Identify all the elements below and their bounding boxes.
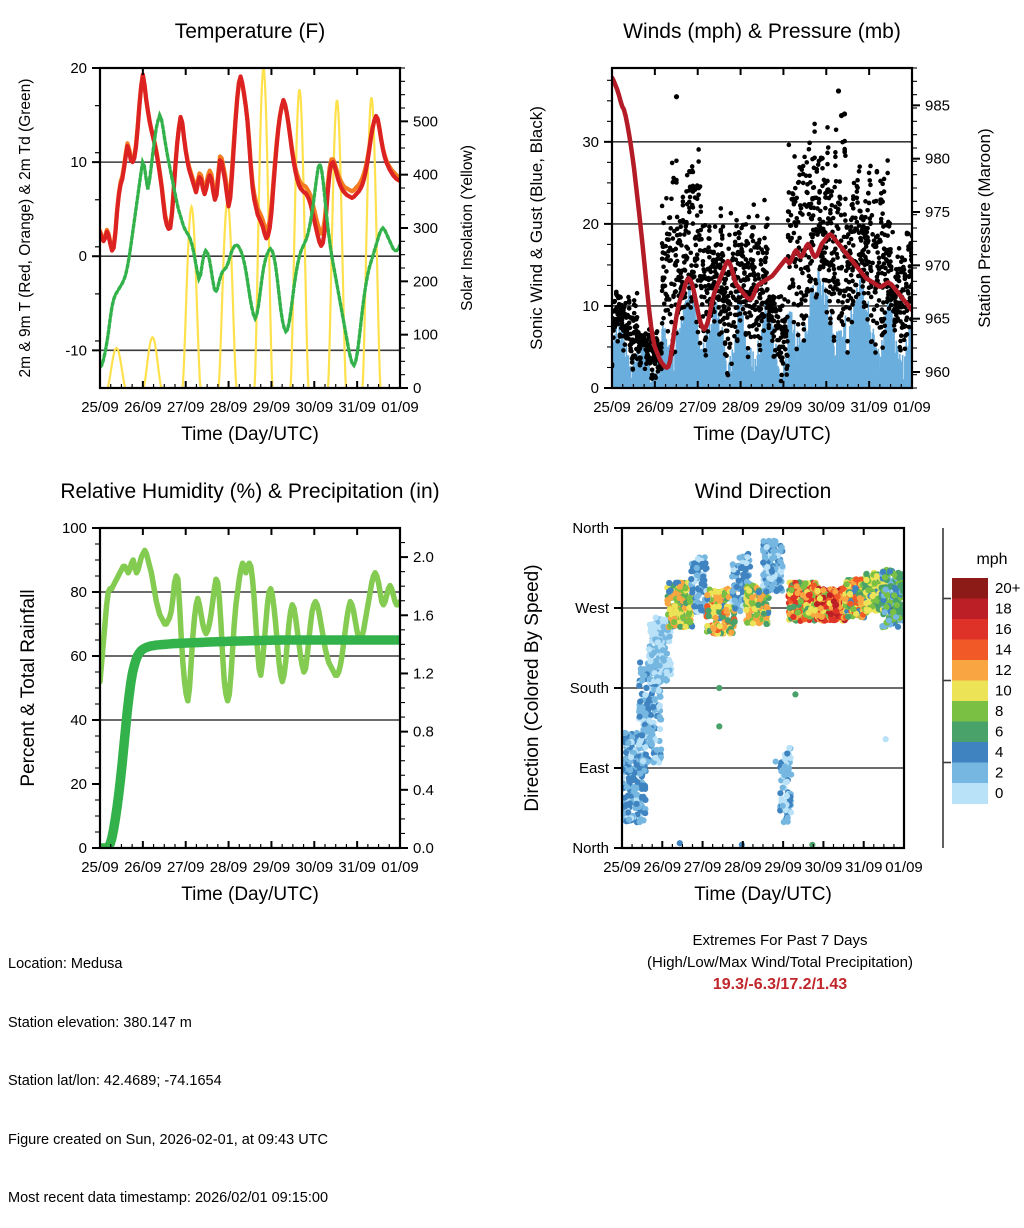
x-tick-label: 01/09: [893, 399, 931, 416]
wind-direction-point: [659, 617, 665, 623]
wind-direction-point: [777, 790, 783, 796]
y-tick-label-right: 0.4: [413, 782, 434, 799]
gust-point: [627, 306, 632, 311]
gust-point: [850, 268, 855, 273]
gust-point: [661, 316, 666, 321]
wind-direction-point: [782, 756, 788, 762]
gust-point: [663, 284, 668, 289]
gust-point: [806, 268, 811, 273]
wind-direction-point: [737, 608, 743, 614]
gust-point: [784, 329, 789, 334]
chart-title: Winds (mph) & Pressure (mb): [623, 20, 901, 43]
wind-direction-point: [643, 752, 649, 758]
wind-direction-point: [671, 619, 677, 625]
wind-direction-point: [770, 548, 776, 554]
gust-point: [630, 366, 635, 371]
gust-point: [868, 222, 873, 227]
gust-point: [751, 202, 756, 207]
gust-point: [729, 362, 734, 367]
wind-direction-point: [625, 740, 631, 746]
wind-direction-point: [778, 768, 784, 774]
y-tick-label-left: 0: [591, 380, 599, 397]
gust-point: [742, 270, 747, 275]
gust-point: [797, 180, 802, 185]
wind-direction-point: [633, 792, 639, 798]
gust-point: [699, 237, 704, 242]
y-tick-label-left: 20: [582, 216, 599, 233]
wind-direction-point: [743, 560, 749, 566]
gust-point: [873, 342, 878, 347]
winds-group: Winds (mph) & Pressure (mb)0102030960965…: [527, 20, 994, 445]
wind-direction-point: [872, 580, 878, 586]
humidity-traces: [100, 550, 400, 848]
gust-point: [794, 196, 799, 201]
gust-point: [686, 230, 691, 235]
y-tick-label-left: West: [575, 600, 610, 617]
gust-point: [851, 206, 856, 211]
gust-point: [756, 251, 761, 256]
gust-point: [670, 161, 675, 166]
wind-direction-point: [728, 629, 734, 635]
gust-point: [679, 243, 684, 248]
gust-point: [785, 364, 790, 369]
gust-point: [673, 253, 678, 258]
gust-point: [870, 339, 875, 344]
wind-direction-point: [664, 651, 670, 657]
gust-point: [803, 298, 808, 303]
gust-point: [726, 246, 731, 251]
gust-point: [808, 180, 813, 185]
gust-point: [695, 196, 700, 201]
gust-point: [792, 231, 797, 236]
gust-point: [857, 169, 862, 174]
wind-direction-point: [656, 687, 662, 693]
x-axis-label: Time (Day/UTC): [181, 424, 319, 445]
gust-point: [729, 211, 734, 216]
gust-point: [754, 300, 759, 305]
gust-point: [700, 302, 705, 307]
y-tick-label-left: 0: [79, 248, 87, 265]
gust-point: [668, 215, 673, 220]
wind-direction-point: [634, 801, 640, 807]
gust-point: [843, 197, 848, 202]
wind-direction-point: [864, 571, 870, 577]
gust-point: [855, 196, 860, 201]
gust-point: [829, 221, 834, 226]
gust-point: [802, 327, 807, 332]
gust-point: [739, 242, 744, 247]
x-tick-label: 27/09: [167, 399, 205, 416]
wind-direction-point: [651, 696, 657, 702]
wind-direction-point: [780, 785, 786, 791]
gust-point: [635, 291, 640, 296]
x-tick-label: 27/09: [679, 399, 717, 416]
gust-point: [817, 197, 822, 202]
gust-point: [761, 328, 766, 333]
gust-point: [746, 241, 751, 246]
gust-point: [759, 307, 764, 312]
wind-direction-point: [786, 745, 792, 751]
gust-point: [669, 304, 674, 309]
y-tick-label-left: 30: [582, 134, 599, 151]
y-axis-label-left: Percent & Total Rainfall: [18, 589, 39, 786]
wind-direction-point: [649, 742, 655, 748]
gust-point: [735, 337, 740, 342]
x-tick-label: 31/09: [850, 399, 888, 416]
gust-point: [756, 272, 761, 277]
gust-point: [779, 373, 784, 378]
wind-direction-point: [766, 538, 772, 544]
gust-point: [776, 315, 781, 320]
gust-point: [688, 250, 693, 255]
wind-direction-point: [883, 736, 889, 742]
gust-point: [850, 202, 855, 207]
wind-direction-point: [785, 815, 791, 821]
gust-point: [744, 222, 749, 227]
gust-point: [849, 237, 854, 242]
gust-point: [770, 338, 775, 343]
gust-point: [668, 258, 673, 263]
wind-direction-point: [771, 554, 777, 560]
gust-point: [869, 269, 874, 274]
gust-point: [889, 267, 894, 272]
gust-point: [633, 304, 638, 309]
wind-direction-point: [641, 768, 647, 774]
gust-point: [707, 224, 712, 229]
wind-direction-point: [627, 800, 633, 806]
y-tick-label-left: -10: [65, 342, 87, 359]
gust-point: [720, 236, 725, 241]
gust-point: [828, 321, 833, 326]
gust-point: [801, 164, 806, 169]
gust-point: [879, 220, 884, 225]
gust-point: [873, 290, 878, 295]
gust-point: [785, 353, 790, 358]
gust-point: [696, 159, 701, 164]
gust-point: [854, 283, 859, 288]
gust-point: [638, 361, 643, 366]
gust-point: [726, 337, 731, 342]
gust-point: [632, 298, 637, 303]
gust-point: [827, 299, 832, 304]
solar-insolation-trace: [219, 201, 237, 388]
gust-point: [668, 312, 673, 317]
gust-point: [674, 180, 679, 185]
wind-direction-point: [756, 589, 762, 595]
gust-point: [735, 305, 740, 310]
y-tick-label-left: 20: [70, 60, 87, 77]
gust-point: [629, 349, 634, 354]
wind-direction-point: [760, 572, 766, 578]
x-tick-label: 25/09: [603, 859, 641, 876]
gust-point: [841, 322, 846, 327]
gust-point: [843, 218, 848, 223]
gust-point: [779, 294, 784, 299]
y-tick-label-right: 0.8: [413, 724, 434, 741]
wind-direction-point: [705, 608, 711, 614]
wind-direction-point: [682, 624, 688, 630]
wind-direction-point: [642, 744, 648, 750]
gust-point: [664, 196, 669, 201]
wind-direction-point: [882, 574, 888, 580]
wind-direction-point: [626, 817, 632, 823]
gust-point: [840, 311, 845, 316]
gust-point: [860, 284, 865, 289]
gust-point: [845, 350, 850, 355]
gust-point: [792, 320, 797, 325]
gust-point: [882, 330, 887, 335]
wind-direction-point: [666, 589, 672, 595]
wind-direction-point: [696, 592, 702, 598]
wind-direction-point: [701, 582, 707, 588]
gust-point: [794, 264, 799, 269]
wind-direction-point: [714, 595, 720, 601]
gust-point: [888, 250, 893, 255]
gust-point: [755, 214, 760, 219]
solar-insolation-trace: [144, 337, 162, 388]
gust-point: [809, 277, 814, 282]
gust-point: [702, 295, 707, 300]
gust-point: [678, 232, 683, 237]
gust-point: [845, 339, 850, 344]
gust-point: [762, 236, 767, 241]
gust-point: [655, 329, 660, 334]
gust-point: [875, 303, 880, 308]
gust-point: [804, 314, 809, 319]
wind-direction-point: [646, 718, 652, 724]
gust-point: [779, 350, 784, 355]
wind-direction-point: [640, 727, 646, 733]
wind-direction-point: [815, 588, 821, 594]
gust-point: [689, 299, 694, 304]
wind-direction-point: [687, 599, 693, 605]
gust-point: [897, 279, 902, 284]
x-tick-label: 01/09: [381, 859, 419, 876]
x-axis-label: Time (Day/UTC): [693, 424, 831, 445]
gust-point: [725, 329, 730, 334]
wind-direction-point: [828, 611, 834, 617]
gust-point: [799, 301, 804, 306]
gust-point: [825, 125, 830, 130]
gust-point: [812, 185, 817, 190]
wind-direction-point: [654, 747, 660, 753]
wind-direction-point: [677, 595, 683, 601]
wind-direction-point: [706, 613, 712, 619]
gust-point: [663, 244, 668, 249]
gust-point: [847, 241, 852, 246]
wind-direction-point: [806, 610, 812, 616]
x-tick-label: 30/09: [296, 859, 334, 876]
chart-title: Relative Humidity (%) & Precipitation (i…: [60, 480, 439, 503]
gust-point: [880, 345, 885, 350]
winds-pressure-chart: Winds (mph) & Pressure (mb)0102030960965…: [512, 0, 1024, 460]
gust-point: [832, 185, 837, 190]
gust-point: [812, 122, 817, 127]
wind-direction-point: [657, 716, 663, 722]
wind-direction-point: [795, 590, 801, 596]
gust-point: [898, 348, 903, 353]
gust-point: [839, 113, 844, 118]
gust-point: [662, 301, 667, 306]
wind-direction-point: [637, 819, 643, 825]
panel-humidity-precip: Relative Humidity (%) & Precipitation (i…: [0, 460, 512, 920]
wind-direction-point: [663, 678, 669, 684]
wind-direction-point: [652, 755, 658, 761]
y-tick-label-left: 60: [70, 648, 87, 665]
gust-point: [643, 367, 648, 372]
wind-direction-point: [725, 617, 731, 623]
gust-point: [726, 307, 731, 312]
gust-point: [731, 251, 736, 256]
x-tick-label: 29/09: [253, 399, 291, 416]
wind-direction-point: [790, 595, 796, 601]
wind-direction-point: [827, 592, 833, 598]
gust-point: [811, 213, 816, 218]
gust-point: [661, 264, 666, 269]
gust-point: [632, 311, 637, 316]
wind-direction-point: [883, 587, 889, 593]
wind-direction-point: [730, 561, 736, 567]
gust-point: [698, 184, 703, 189]
gust-point: [801, 181, 806, 186]
gust-point: [834, 127, 839, 132]
wind-direction-point: [761, 611, 767, 617]
gust-point: [691, 270, 696, 275]
y-tick-label-right: 300: [413, 220, 438, 237]
wind-direction-point: [689, 590, 695, 596]
wind-direction-point: [697, 604, 703, 610]
wind-direction-point: [763, 621, 769, 627]
gust-point: [618, 295, 623, 300]
gust-point: [772, 301, 777, 306]
gust-point: [866, 291, 871, 296]
wind-direction-point: [637, 659, 643, 665]
wind-direction-point: [641, 672, 647, 678]
gust-point: [805, 191, 810, 196]
gust-point: [888, 221, 893, 226]
wind-direction-point: [764, 544, 770, 550]
gust-point: [772, 295, 777, 300]
gust-point: [895, 254, 900, 259]
gust-point: [796, 220, 801, 225]
wind-direction-point: [661, 658, 667, 664]
wind-direction-point: [673, 580, 679, 586]
y-tick-label-right: 400: [413, 167, 438, 184]
gust-point: [691, 205, 696, 210]
wind-direction-point: [643, 685, 649, 691]
gust-point: [750, 233, 755, 238]
gust-point: [659, 341, 664, 346]
gust-point: [882, 310, 887, 315]
gust-point: [849, 273, 854, 278]
x-tick-label: 25/09: [81, 399, 119, 416]
y-tick-label-right: 1.2: [413, 665, 434, 682]
gust-point: [712, 319, 717, 324]
x-axis-label: Time (Day/UTC): [181, 884, 319, 905]
gust-point: [762, 198, 767, 203]
wind-direction-point: [694, 572, 700, 578]
wind-direction-point: [729, 574, 735, 580]
wind-direction-point: [835, 594, 841, 600]
gust-point: [862, 291, 867, 296]
gust-point: [688, 195, 693, 200]
x-tick-label: 31/09: [338, 399, 376, 416]
wind-direction-point: [784, 750, 790, 756]
gust-point: [864, 303, 869, 308]
gust-point: [870, 232, 875, 237]
wind-direction-point: [734, 584, 740, 590]
x-tick-label: 25/09: [81, 859, 119, 876]
wind-direction-point: [691, 603, 697, 609]
gust-point: [703, 348, 708, 353]
y-tick-label-right: 970: [925, 257, 950, 274]
gust-point: [874, 199, 879, 204]
gust-point: [864, 244, 869, 249]
gust-point: [780, 355, 785, 360]
gust-point: [680, 316, 685, 321]
relative-humidity-trace: [100, 550, 400, 700]
gust-point: [672, 282, 677, 287]
wind-direction-point: [630, 774, 636, 780]
y-tick-label-left: North: [572, 520, 609, 537]
gust-point: [722, 305, 727, 310]
humidity-precip-chart: Relative Humidity (%) & Precipitation (i…: [0, 460, 512, 920]
gust-point: [791, 192, 796, 197]
wind-direction-point: [866, 607, 872, 613]
gust-point: [666, 254, 671, 259]
gust-point: [667, 232, 672, 237]
gust-point: [675, 215, 680, 220]
y-tick-label-left: 20: [70, 776, 87, 793]
wind-direction-point: [784, 793, 790, 799]
gust-point: [899, 333, 904, 338]
solar-insolation-trace: [108, 348, 126, 388]
gust-point: [877, 298, 882, 303]
gust-point: [800, 212, 805, 217]
gust-point: [877, 256, 882, 261]
gust-point: [660, 256, 665, 261]
wind-direction-point: [869, 593, 875, 599]
gust-point: [801, 322, 806, 327]
gust-point: [698, 209, 703, 214]
gust-point: [845, 225, 850, 230]
wind-direction-point: [887, 569, 893, 575]
gust-point: [674, 159, 679, 164]
gust-point: [802, 338, 807, 343]
gust-point: [789, 213, 794, 218]
gust-point: [905, 315, 910, 320]
gust-point: [684, 222, 689, 227]
gust-point: [721, 253, 726, 258]
gust-point: [814, 167, 819, 172]
winds-traces: [610, 78, 915, 388]
gust-point: [829, 193, 834, 198]
gust-point: [743, 311, 748, 316]
gust-point: [786, 218, 791, 223]
wind-direction-point: [788, 587, 794, 593]
y-tick-label-left: North: [572, 840, 609, 857]
total-rainfall-trace: [100, 640, 400, 848]
gust-point: [799, 206, 804, 211]
gust-point: [797, 236, 802, 241]
gust-point: [724, 353, 729, 358]
gust-point: [674, 94, 679, 99]
gust-point: [807, 212, 812, 217]
gust-point: [627, 321, 632, 326]
gust-point: [882, 317, 887, 322]
gust-point: [765, 287, 770, 292]
gust-point: [698, 341, 703, 346]
